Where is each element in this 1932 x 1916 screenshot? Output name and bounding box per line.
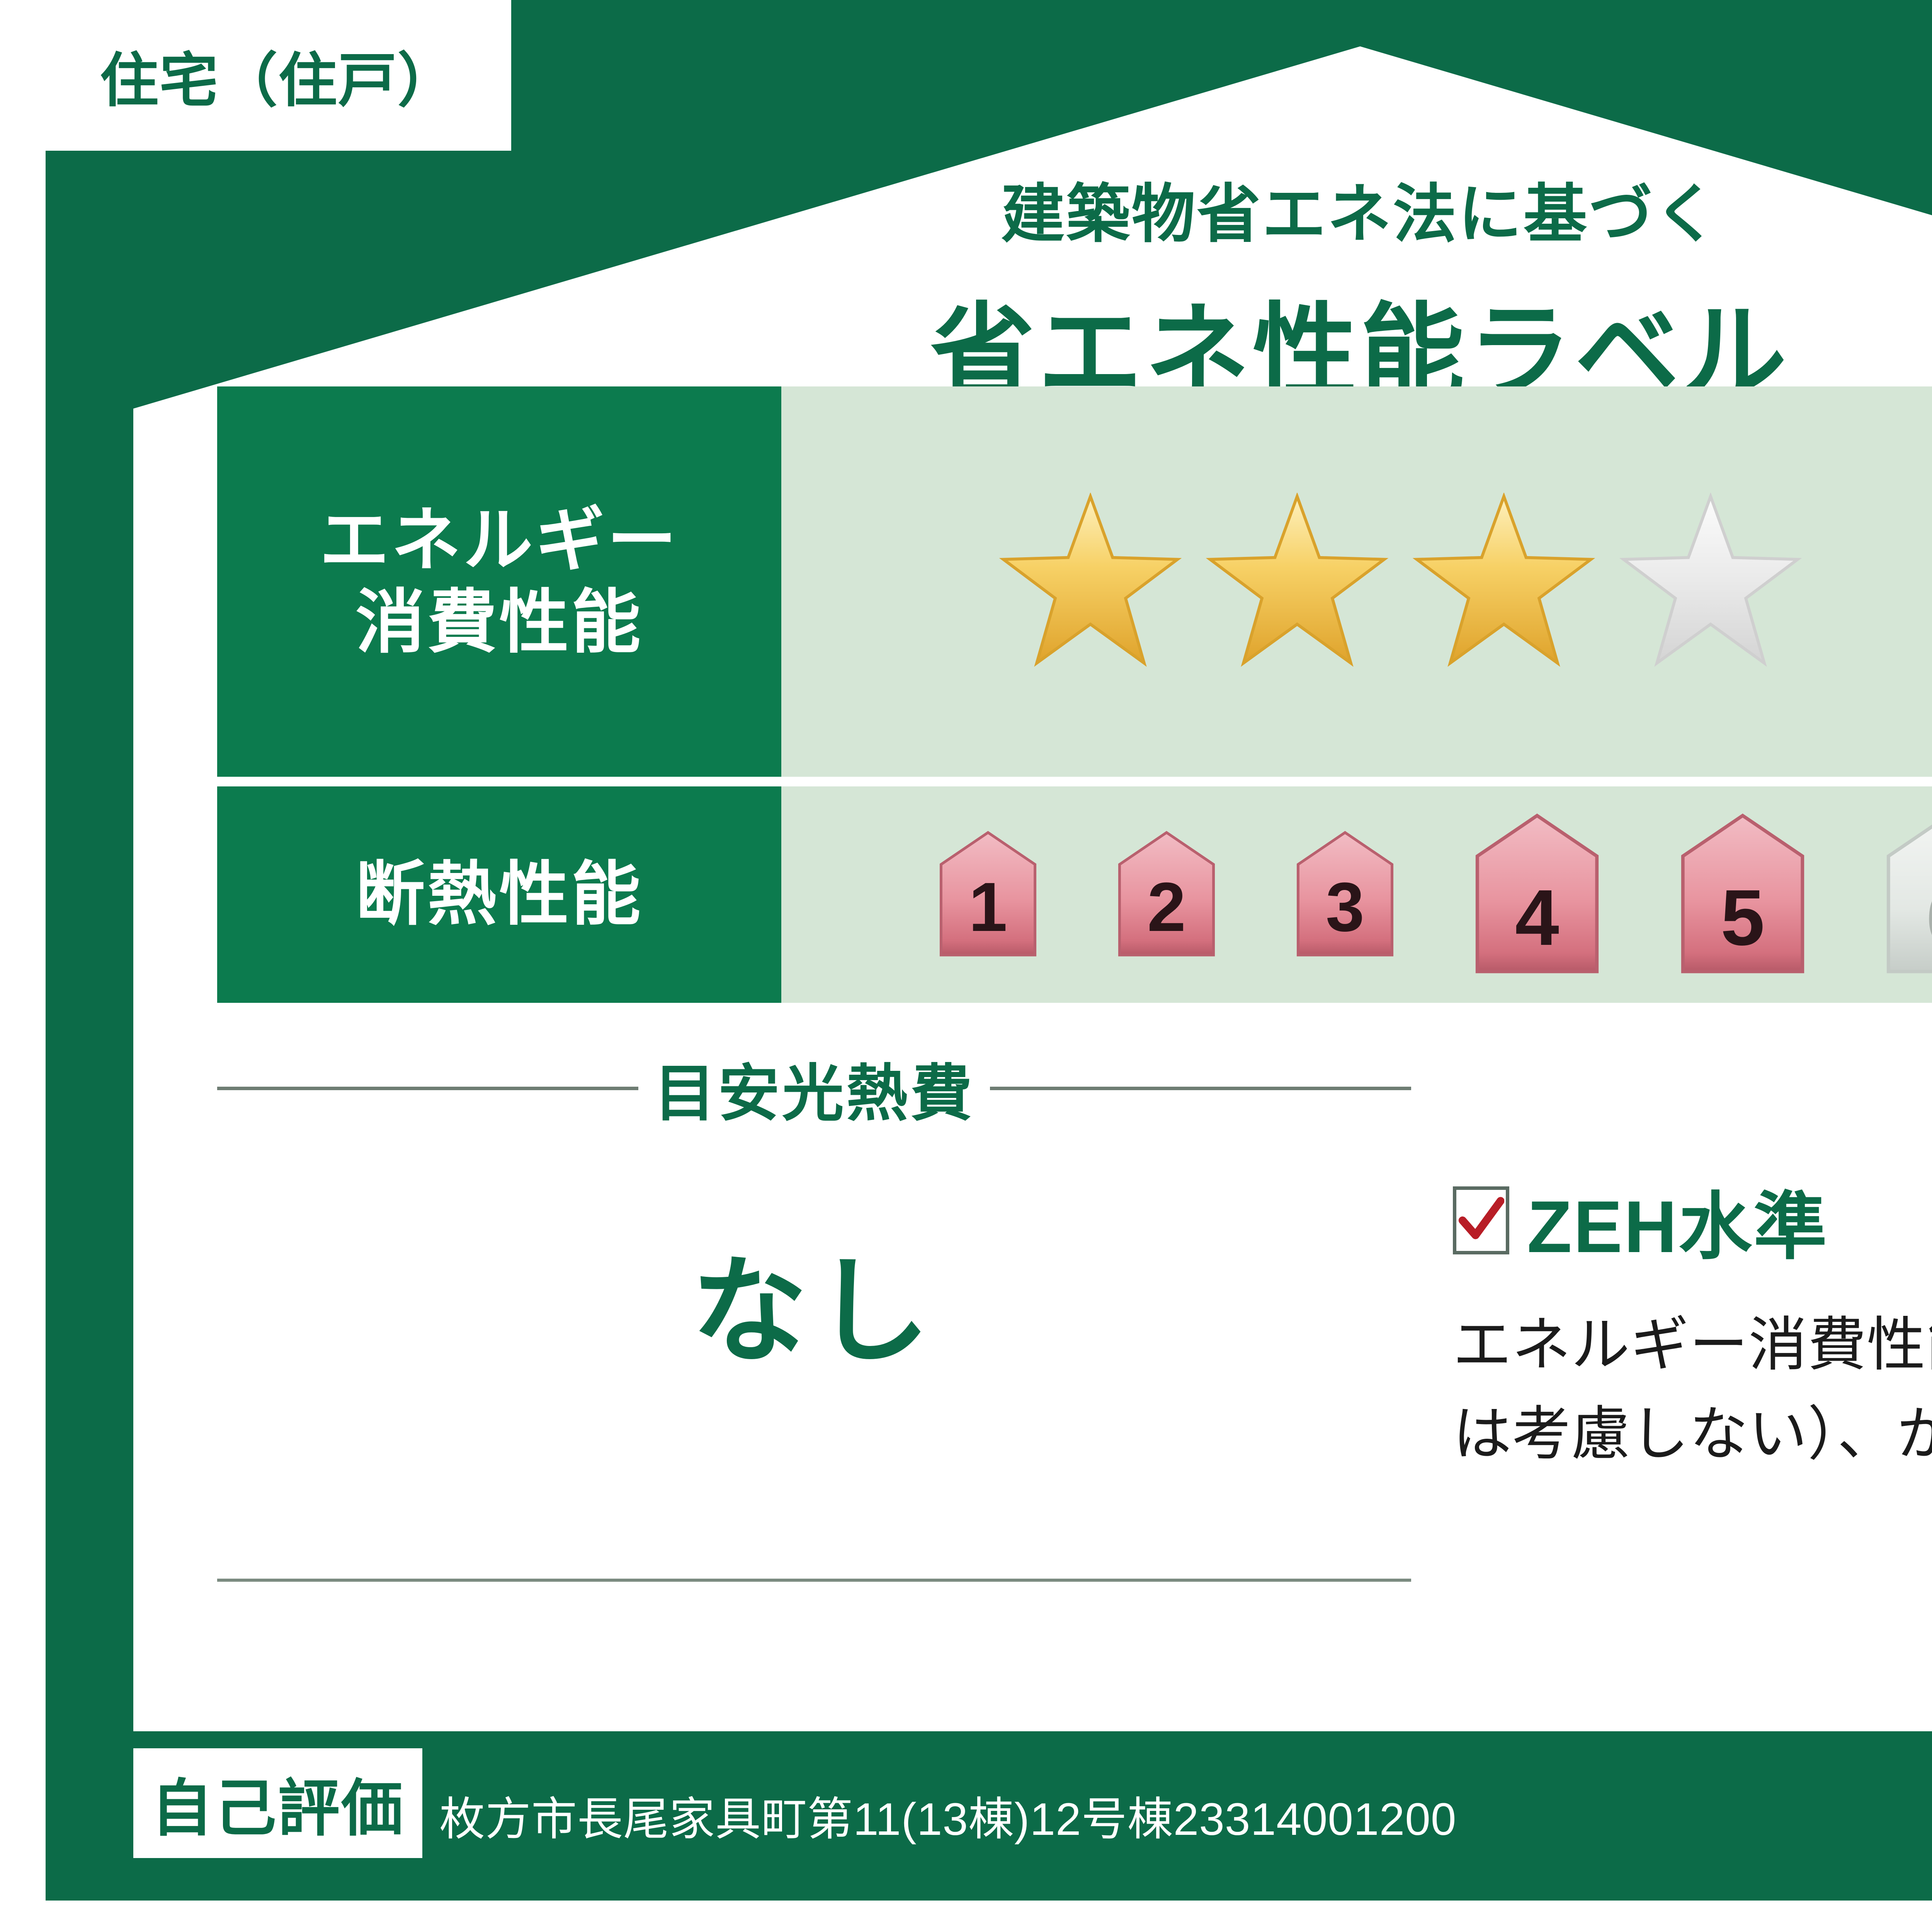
insulation-label-text: 断熱性能 [355,854,643,936]
utility-cost-value: なし [217,1217,1411,1385]
self-evaluation-badge: 自己評価 [133,1748,422,1858]
building-type-tag: 住宅（住戸） [46,0,511,151]
zeh-desc-part2: は考慮しない）、かつ断熱性能で [1453,1401,1932,1467]
energy-performance-row: エネルギー 消費性能 [217,386,1932,777]
insulation-badge-value: 5 [1721,878,1765,957]
insulation-performance-row: 断熱性能 1234567 [217,786,1932,1003]
star-icon-filled [1204,493,1390,670]
insulation-badge-value: 4 [1515,878,1559,957]
insulation-badge-active: 1 [905,831,1071,958]
zeh-description: エネルギー消費性能で 3つ（太陽光発電は考慮しない）、かつ断熱性能で [1453,1300,1932,1479]
insulation-badge-value: 3 [1326,873,1364,942]
insulation-badge-value: 2 [1147,873,1186,942]
energy-label-line2: 消費性能 [355,582,643,664]
zeh-title: ZEH水準 [1527,1167,1828,1273]
header-subtitle: 建築物省エネ法に基づく [133,162,1932,255]
label-header: 建築物省エネ法に基づく 省エネ性能ラベル [133,162,1932,419]
property-address: 枚方市長尾家具町第11(13棟)12号棟23314001200 [439,1782,1456,1858]
insulation-badge-active: 3 [1262,831,1428,958]
utility-cost-heading: 目安光熱費 [217,1043,1411,1133]
heading-rule-right [990,1087,1411,1090]
heading-rule-left [217,1087,638,1090]
insulation-badge-active: 2 [1083,831,1250,958]
energy-performance-label: エネルギー 消費性能 [217,386,781,777]
energy-label-root: 住宅（住戸） 再エネ設備なし 建築物省エネ法に基づく 省エネ性能ラベル エネルギ… [0,0,1932,1916]
energy-label-line1: エネルギー [320,500,679,582]
insulation-badge-value: 6 [1926,878,1932,957]
page-edge-bottom [0,1901,1932,1916]
page-edge-left [0,0,46,1916]
check-icon [1458,1193,1504,1247]
zeh-checkbox[interactable] [1453,1186,1509,1254]
star-rating [781,386,1932,777]
insulation-level-scale: 1234567 [781,786,1932,1003]
zeh-section: ZEH水準 エネルギー消費性能で 3つ（太陽光発電は考慮しない）、かつ断熱性能で [1453,1167,1932,1479]
zeh-heading-row: ZEH水準 [1453,1167,1932,1273]
house-badge-icon [1852,813,1932,976]
insulation-badge-inactive: 6 [1852,813,1932,976]
insulation-performance-label: 断熱性能 [217,786,781,1003]
footer-left: 自己評価 枚方市長尾家具町第11(13棟)12号棟23314001200 [133,1748,1457,1858]
utility-cost-heading-text: 目安光熱費 [638,1043,990,1133]
insulation-badge-value: 1 [969,873,1007,942]
insulation-badge-active: 5 [1646,813,1839,976]
zeh-desc-part1: エネルギー消費性能で [1453,1312,1932,1378]
star-icon-filled [1411,493,1597,670]
utility-cost-bottom-rule [217,1579,1411,1582]
star-icon-empty [1618,493,1803,670]
star-icon-filled [998,493,1183,670]
insulation-badge-active: 4 [1440,813,1634,976]
